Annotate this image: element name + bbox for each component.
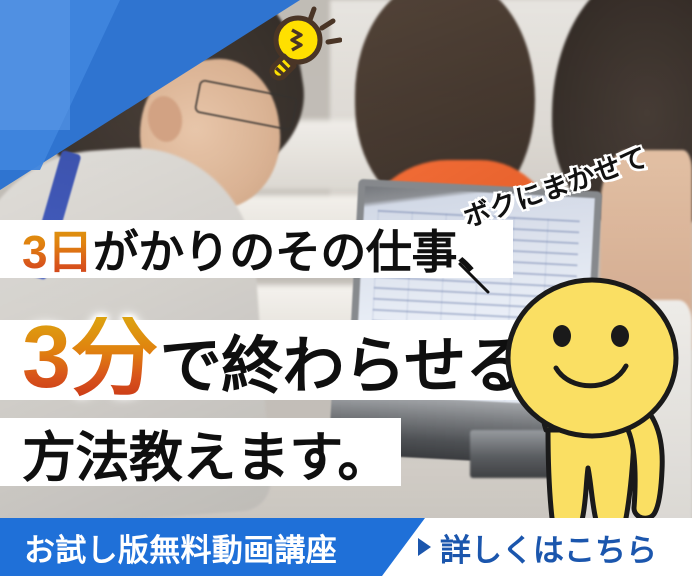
ad-banner: 3日がかりのその仕事、 3分で終わらせる 方法教えます。 ボクにまかせて <box>0 0 692 576</box>
cta-detail-link[interactable]: 詳しくはこちら <box>418 518 657 576</box>
headline-line-2: 3分で終わらせる <box>0 320 537 400</box>
headline-line-3-text: 方法教えます。 <box>22 413 391 492</box>
headline-line-1-text: がかりのその仕事、 <box>93 216 503 282</box>
yellow-smiley-mascot <box>492 232 692 532</box>
cta-detail-link-label[interactable]: 詳しくはこちら <box>440 525 657 570</box>
corner-blue-shape-highlight <box>0 0 70 130</box>
cta-bar: お試し版無料動画講座 詳しくはこちら <box>0 518 692 576</box>
lightbulb-icon <box>258 6 342 82</box>
headline-line-2-accent: 3分 <box>22 317 158 396</box>
headline-line-1-accent: 3日 <box>22 216 93 282</box>
play-triangle-icon <box>418 538 431 556</box>
headline-line-2-text: で終わらせる <box>160 315 527 405</box>
mascot-eye-left <box>553 325 571 347</box>
headline-line-1: 3日がかりのその仕事、 <box>0 220 513 278</box>
cta-primary-label[interactable]: お試し版無料動画講座 <box>24 518 337 576</box>
mascot-speech-pointer-line <box>458 262 492 296</box>
mascot-eye-right <box>611 325 629 347</box>
headline-line-3: 方法教えます。 <box>0 418 401 486</box>
